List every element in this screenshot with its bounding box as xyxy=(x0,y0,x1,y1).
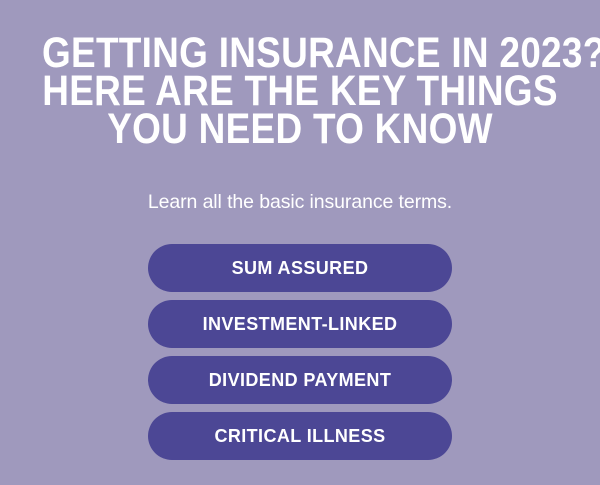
term-pill-label: SUM ASSURED xyxy=(232,258,369,279)
headline-line-3: YOU NEED TO KNOW xyxy=(42,110,558,148)
term-pill-dividend-payment[interactable]: DIVIDEND PAYMENT xyxy=(148,356,452,404)
term-pill-label: DIVIDEND PAYMENT xyxy=(209,370,391,391)
page-title: GETTING INSURANCE IN 2023? HERE ARE THE … xyxy=(42,34,558,148)
term-pill-sum-assured[interactable]: SUM ASSURED xyxy=(148,244,452,292)
subtitle: Learn all the basic insurance terms. xyxy=(0,190,600,214)
term-pill-investment-linked[interactable]: INVESTMENT-LINKED xyxy=(148,300,452,348)
term-pill-label: INVESTMENT-LINKED xyxy=(203,314,398,335)
term-pill-list: SUM ASSURED INVESTMENT-LINKED DIVIDEND P… xyxy=(0,244,600,460)
term-pill-label: CRITICAL ILLNESS xyxy=(214,426,385,447)
insurance-terms-poster: GETTING INSURANCE IN 2023? HERE ARE THE … xyxy=(0,0,600,485)
term-pill-critical-illness[interactable]: CRITICAL ILLNESS xyxy=(148,412,452,460)
